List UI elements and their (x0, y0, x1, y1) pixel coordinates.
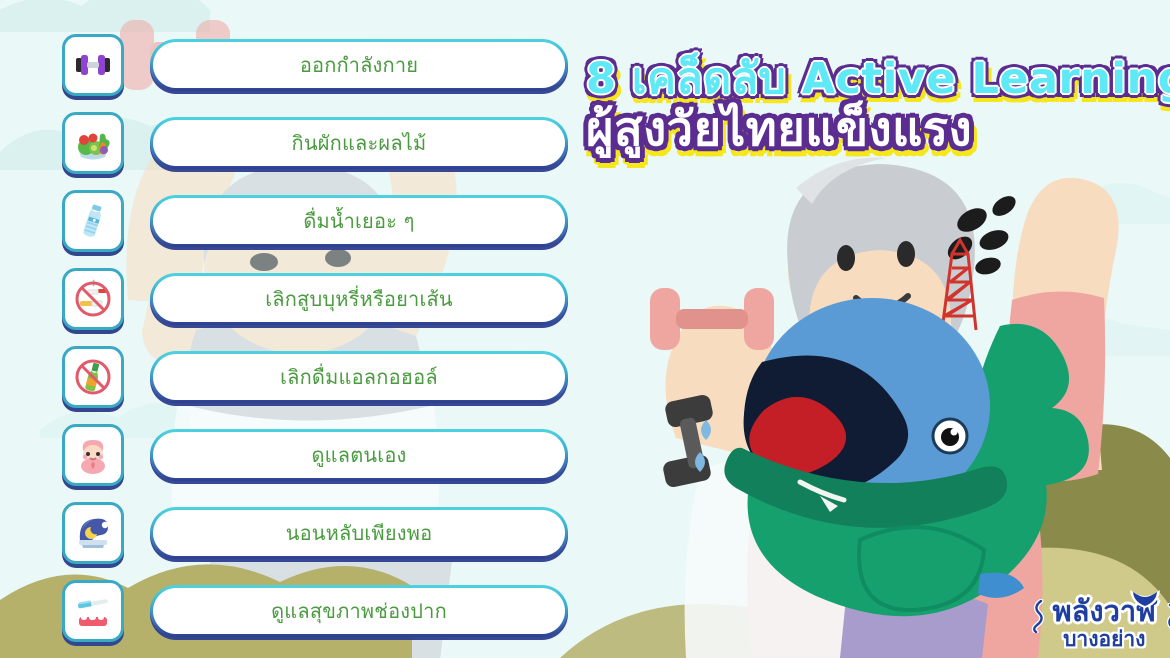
tip-pill-6[interactable]: ดูแลตนเอง (150, 429, 568, 481)
whale-tail-icon (1128, 587, 1162, 609)
logo-swirl-right-icon (1162, 603, 1170, 637)
tips-list: ออกกำลังกาย กินผักและผลไม้ (0, 0, 600, 658)
tip-pill-2[interactable]: กินผักและผลไม้ (150, 117, 568, 169)
sleep-icon (74, 514, 112, 552)
tip-pill-1[interactable]: ออกกำลังกาย (150, 39, 568, 91)
tip-label-5: เลิกดื่มแอลกอฮอล์ (280, 367, 438, 387)
water-bottle-icon (74, 202, 112, 240)
tip-icon-box-1[interactable] (62, 34, 124, 96)
vegetables-icon (73, 123, 113, 163)
eye-right (897, 241, 915, 267)
tip-pill-4[interactable]: เลิกสูบบุหรี่หรือยาเส้น (150, 273, 568, 325)
logo-swirl-left-icon (1031, 599, 1049, 633)
tip-label-2: กินผักและผลไม้ (292, 133, 427, 153)
dental-care-icon (74, 592, 112, 630)
tip-label-7: นอนหลับเพียงพอ (286, 523, 433, 543)
no-smoking-icon (73, 279, 113, 319)
tip-pill-5[interactable]: เลิกดื่มแอลกอฮอล์ (150, 351, 568, 403)
tip-icon-box-2[interactable] (62, 112, 124, 174)
tip-label-6: ดูแลตนเอง (311, 445, 406, 465)
no-alcohol-icon (73, 357, 113, 397)
tip-label-4: เลิกสูบบุหรี่หรือยาเส้น (265, 289, 453, 309)
poster-canvas: 8 เคล็ดลับ Active Learning ผู้สูงวัยไทยแ… (0, 0, 1170, 658)
tip-icon-box-3[interactable] (62, 190, 124, 252)
tip-icon-box-5[interactable] (62, 346, 124, 408)
pink-dumbbell (650, 288, 680, 350)
tip-label-3: ดื่มน้ำเยอะ ๆ (303, 211, 414, 231)
logo-sub-text: บางอย่าง (1053, 629, 1156, 650)
self-care-icon (74, 436, 112, 474)
title-line-2: ผู้สูงวัยไทยแข็งแรง (586, 106, 1170, 154)
poster-title: 8 เคล็ดลับ Active Learning ผู้สูงวัยไทยแ… (586, 58, 1170, 154)
tip-label-8: ดูแลสุขภาพช่องปาก (271, 601, 447, 621)
dumbbell-icon (74, 46, 112, 84)
tip-label-1: ออกกำลังกาย (300, 55, 418, 75)
tip-pill-3[interactable]: ดื่มน้ำเยอะ ๆ (150, 195, 568, 247)
tip-icon-box-8[interactable] (62, 580, 124, 642)
brand-logo[interactable]: พลังวาฬ บางอย่าง (1053, 597, 1156, 650)
tip-icon-box-7[interactable] (62, 502, 124, 564)
tip-pill-7[interactable]: นอนหลับเพียงพอ (150, 507, 568, 559)
tip-icon-box-4[interactable] (62, 268, 124, 330)
tip-icon-box-6[interactable] (62, 424, 124, 486)
eye-left (837, 245, 855, 271)
tip-pill-8[interactable]: ดูแลสุขภาพช่องปาก (150, 585, 568, 637)
title-line-1: 8 เคล็ดลับ Active Learning (586, 58, 1170, 102)
